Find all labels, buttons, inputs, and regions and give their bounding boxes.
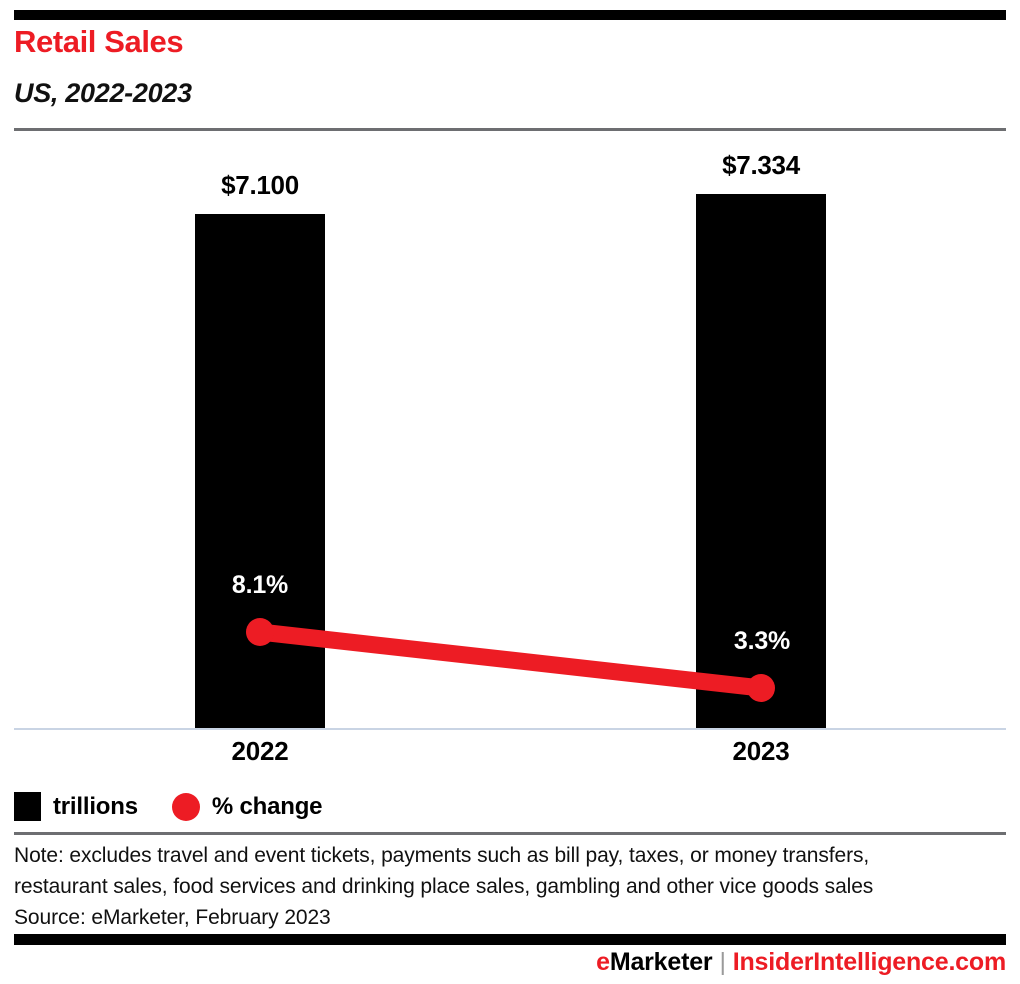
notes-divider <box>14 832 1006 835</box>
chart-baseline-axis <box>14 728 1006 730</box>
brand-emarketer-e: e <box>596 948 610 976</box>
x-axis-label-2023: 2023 <box>661 738 861 764</box>
chart-legend: trillions % change <box>14 792 322 821</box>
legend-item-percent-change: % change <box>172 793 322 821</box>
chart-notes: Note: excludes travel and event tickets,… <box>14 840 1006 933</box>
bar-value-label-2023: $7.334 <box>661 152 861 178</box>
legend-circle-icon <box>172 793 200 821</box>
brand-insiderintelligence-site: InsiderIntelligence.com <box>733 948 1006 976</box>
percent-change-label-2022: 8.1% <box>180 573 340 598</box>
header-divider <box>14 128 1006 131</box>
percent-change-line-series <box>0 140 1020 730</box>
note-line-1: Note: excludes travel and event tickets,… <box>14 840 1006 871</box>
bar-2022 <box>195 214 325 728</box>
chart-plot-area: $7.100 $7.334 8.1% 3.3% <box>0 140 1020 730</box>
chart-page: Retail Sales US, 2022-2023 $7.100 $7.334… <box>0 0 1020 984</box>
source-line: Source: eMarketer, February 2023 <box>14 902 1006 933</box>
note-line-2: restaurant sales, food services and drin… <box>14 871 1006 902</box>
page-subtitle: US, 2022-2023 <box>14 80 192 107</box>
brand-separator: | <box>712 948 732 976</box>
x-axis-label-2022: 2022 <box>160 738 360 764</box>
footer-divider <box>14 934 1006 945</box>
footer-branding: eMarketer|InsiderIntelligence.com <box>596 950 1006 975</box>
legend-label-trillions: trillions <box>53 795 138 819</box>
legend-item-trillions: trillions <box>14 792 138 821</box>
bar-value-label-2022: $7.100 <box>160 172 360 198</box>
page-title: Retail Sales <box>14 26 183 57</box>
percent-change-label-2023: 3.3% <box>682 629 842 654</box>
legend-square-icon <box>14 792 41 821</box>
brand-emarketer-marketer: Marketer <box>610 948 713 976</box>
top-rule-divider <box>14 10 1006 20</box>
legend-label-percent-change: % change <box>212 795 322 819</box>
